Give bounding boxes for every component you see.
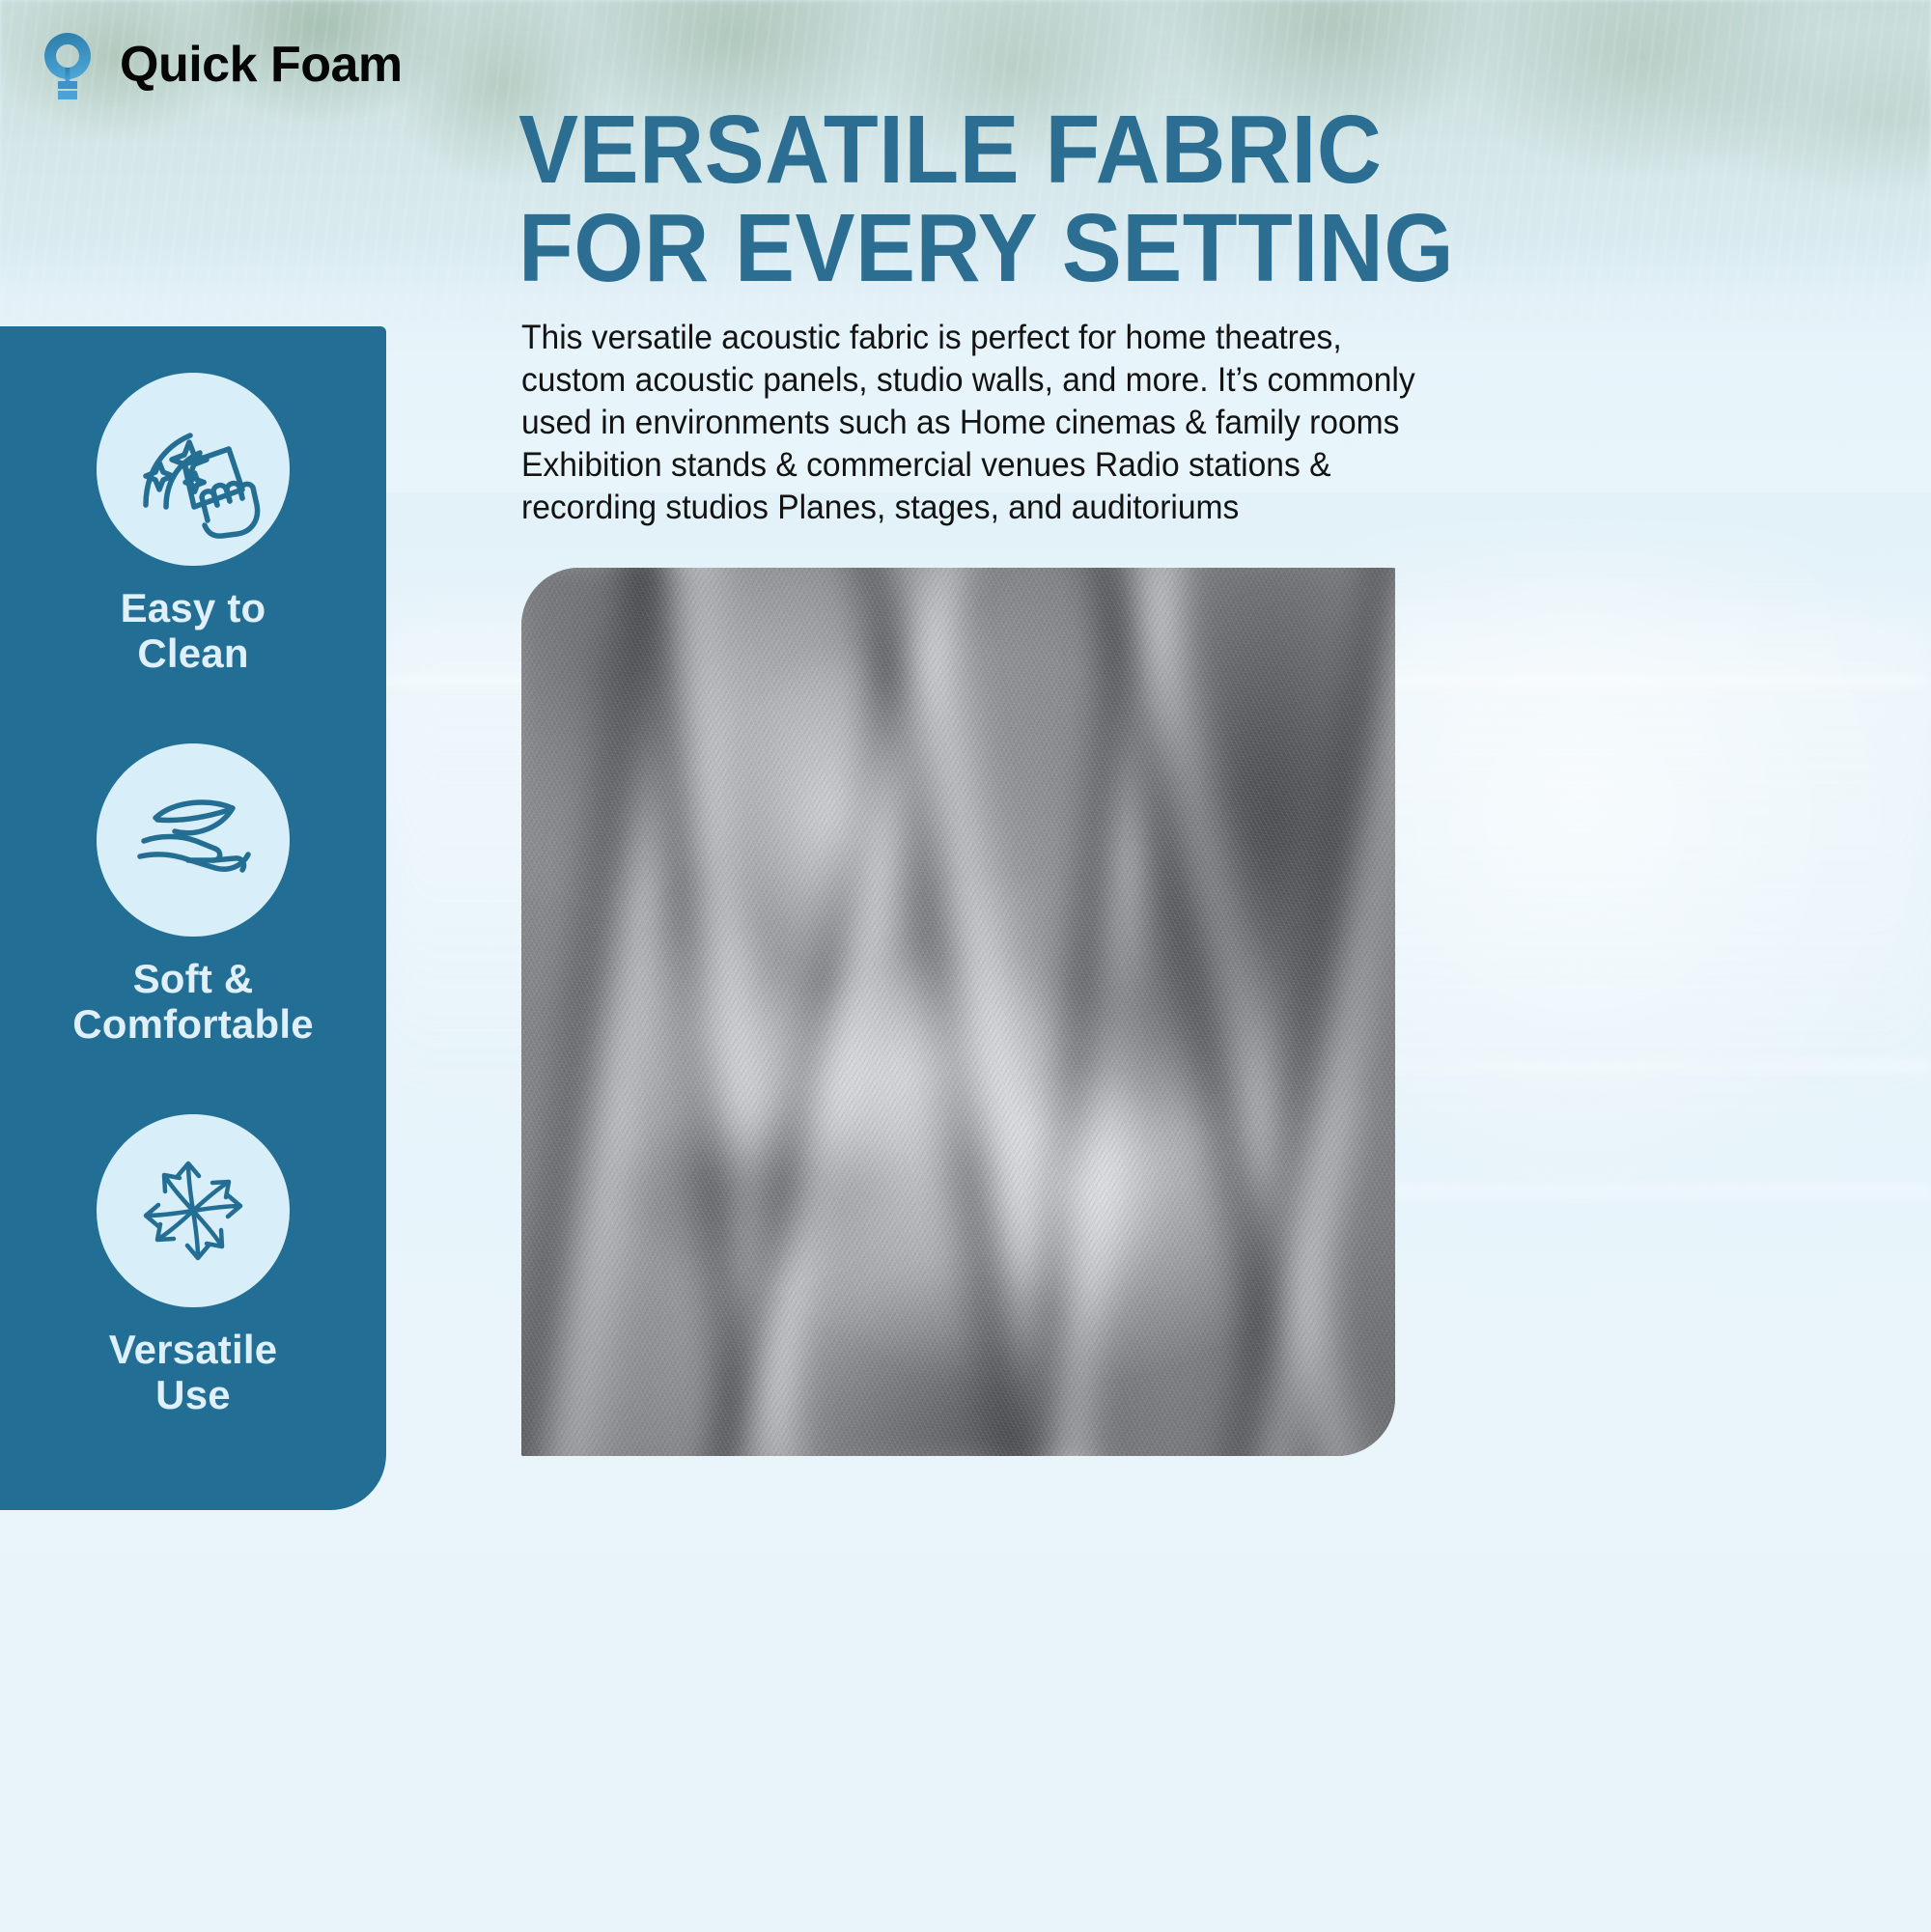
feature-icon-badge	[97, 373, 290, 566]
description-line-5: recording studios Planes, stages, and au…	[521, 487, 1458, 529]
feature-label: Soft & Comfortable	[0, 956, 386, 1047]
brand-name: Quick Foam	[120, 40, 403, 90]
feature-label-line-1: Soft &	[133, 956, 254, 1001]
brand-logo[interactable]: Quick Foam	[37, 27, 403, 102]
feature-item-soft-comfortable[interactable]: Soft & Comfortable	[0, 743, 386, 1047]
description-line-1: This versatile acoustic fabric is perfec…	[521, 317, 1458, 359]
background-soft-glow-right	[1332, 541, 1931, 1217]
fabric-vignette	[521, 568, 1395, 1456]
feature-icon-badge	[97, 743, 290, 937]
background-ledge-line-2	[1381, 1062, 1931, 1070]
quick-foam-q-mark-icon	[37, 27, 102, 102]
feature-label-line-2: Use	[155, 1372, 231, 1417]
background-ledge-line-3	[1390, 1188, 1931, 1195]
hand-holding-leaf-icon	[121, 768, 266, 912]
feature-sidebar: Easy to Clean Soft & Comfortable	[0, 326, 386, 1510]
description-paragraph: This versatile acoustic fabric is perfec…	[521, 317, 1458, 529]
headline-line-2: FOR EVERY SETTING	[518, 199, 1803, 297]
feature-label: Versatile Use	[0, 1327, 386, 1417]
radiating-arrows-icon	[121, 1138, 266, 1283]
description-line-3: used in environments such as Home cinema…	[521, 402, 1458, 444]
feature-item-versatile-use[interactable]: Versatile Use	[0, 1114, 386, 1417]
product-photo	[521, 568, 1395, 1456]
feature-label-line-1: Easy to	[121, 585, 266, 630]
feature-label-line-2: Clean	[137, 630, 248, 676]
feature-item-easy-to-clean[interactable]: Easy to Clean	[0, 373, 386, 676]
page-title: VERSATILE FABRIC FOR EVERY SETTING	[518, 100, 1803, 297]
description-line-4: Exhibition stands & commercial venues Ra…	[521, 444, 1458, 487]
feature-label-line-1: Versatile	[109, 1327, 278, 1372]
feature-icon-badge	[97, 1114, 290, 1307]
headline-line-1: VERSATILE FABRIC	[518, 100, 1803, 199]
description-line-2: custom acoustic panels, studio walls, an…	[521, 359, 1458, 402]
feature-label: Easy to Clean	[0, 585, 386, 676]
fabric-texture	[521, 568, 1395, 1456]
poster-canvas: Quick Foam VERSATILE FABRIC FOR EVERY SE…	[0, 0, 1931, 1932]
feature-label-line-2: Comfortable	[72, 1001, 314, 1047]
sparkle-wipe-cloth-icon	[121, 397, 266, 542]
